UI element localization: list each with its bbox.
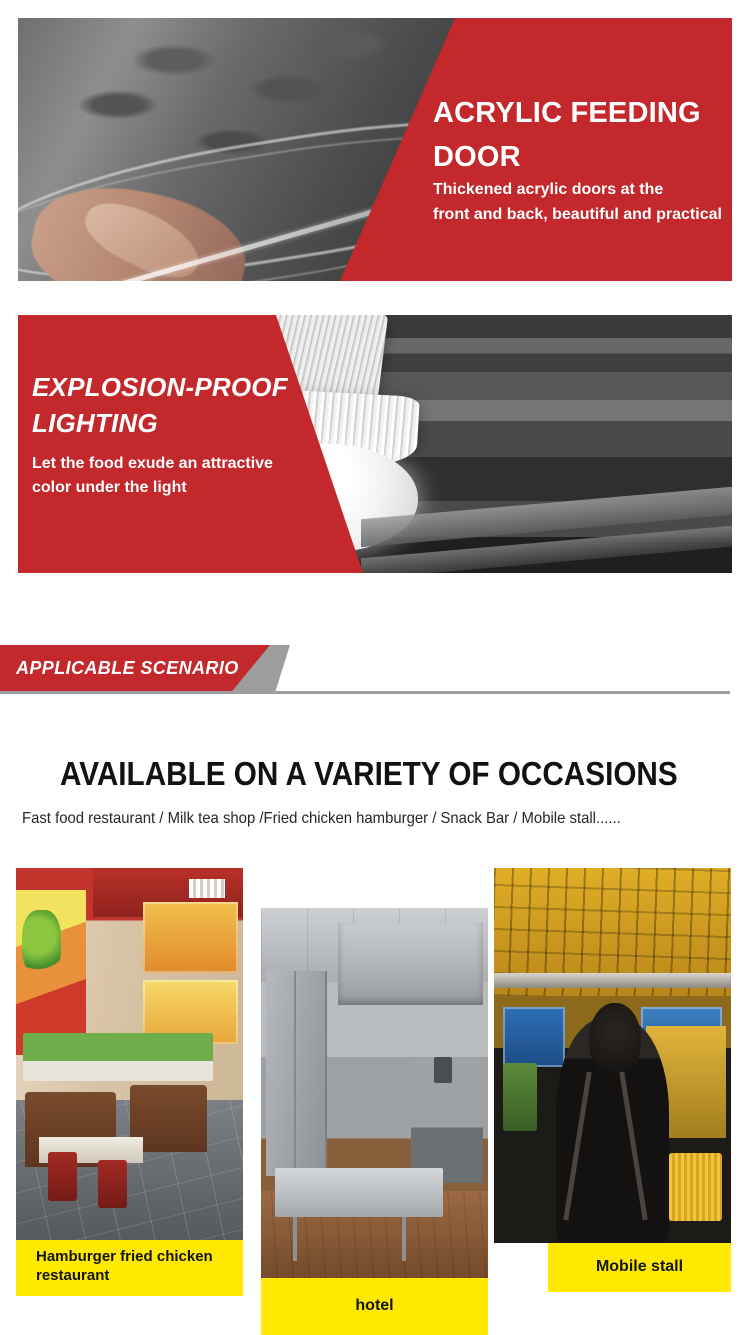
stall-vendor-head [589,1003,641,1078]
restaurant-chair-shape-secondary [98,1160,128,1209]
banner-subtitle-line1: Let the food exude an attractive [32,455,273,473]
banner-subtitle-line1: Thickened acrylic doors at the [433,181,663,199]
scenario-caption-hamburger-fried-chicken-restaurant: Hamburger fried chicken restaurant [16,1240,243,1296]
page-title: AVAILABLE ON A VARIETY OF OCCASIONS [60,755,678,793]
scenario-caption-mobile-stall: Mobile stall [548,1243,731,1292]
kitchen-prep-counter [275,1168,443,1216]
banner-subtitle-line2: color under the light [32,479,187,497]
banner-title-line1: ACRYLIC FEEDING [433,97,701,130]
scenario-tag-underline [0,691,730,694]
stall-produce-shape [503,1063,536,1131]
stall-sign-shape [503,1007,565,1067]
banner-title-line1: EXPLOSION-PROOF [32,372,288,403]
stall-beam-shape [494,973,731,988]
product-feature-page: ACRYLIC FEEDING DOOR Thickened acrylic d… [0,0,750,1335]
restaurant-chair-shape [48,1152,78,1201]
banner-title-line2: LIGHTING [32,408,158,439]
scenario-tag-label: APPLICABLE SCENARIO [16,658,239,679]
banner-title-line2: DOOR [433,141,521,174]
scenario-photo-mobile-stall [494,868,731,1243]
feature-banner-explosion-proof-lighting: EXPLOSION-PROOF LIGHTING Let the food ex… [18,315,732,573]
restaurant-wall-poster [16,890,86,1055]
restaurant-ceiling-light [189,879,225,898]
kitchen-exhaust-hood [338,923,483,1005]
scenario-photo-fast-food-restaurant [16,868,243,1242]
page-subtitle: Fast food restaurant / Milk tea shop /Fr… [22,810,621,828]
scenario-caption-hotel: hotel [261,1278,488,1335]
restaurant-menu-board [143,902,238,973]
stall-food-display [669,1153,721,1221]
restaurant-planter-shape [23,1033,214,1082]
applicable-scenario-tag: APPLICABLE SCENARIO [0,645,750,697]
banner-subtitle-line2: front and back, beautiful and practical [433,206,722,224]
scenario-photo-hotel-kitchen [261,908,488,1280]
kitchen-counter-leg [293,1217,297,1262]
kitchen-counter-leg-secondary [402,1217,406,1262]
kitchen-pot-shape [434,1057,452,1083]
kitchen-fridge-shape [266,971,327,1176]
feature-banner-acrylic-feeding-door: ACRYLIC FEEDING DOOR Thickened acrylic d… [18,18,732,281]
